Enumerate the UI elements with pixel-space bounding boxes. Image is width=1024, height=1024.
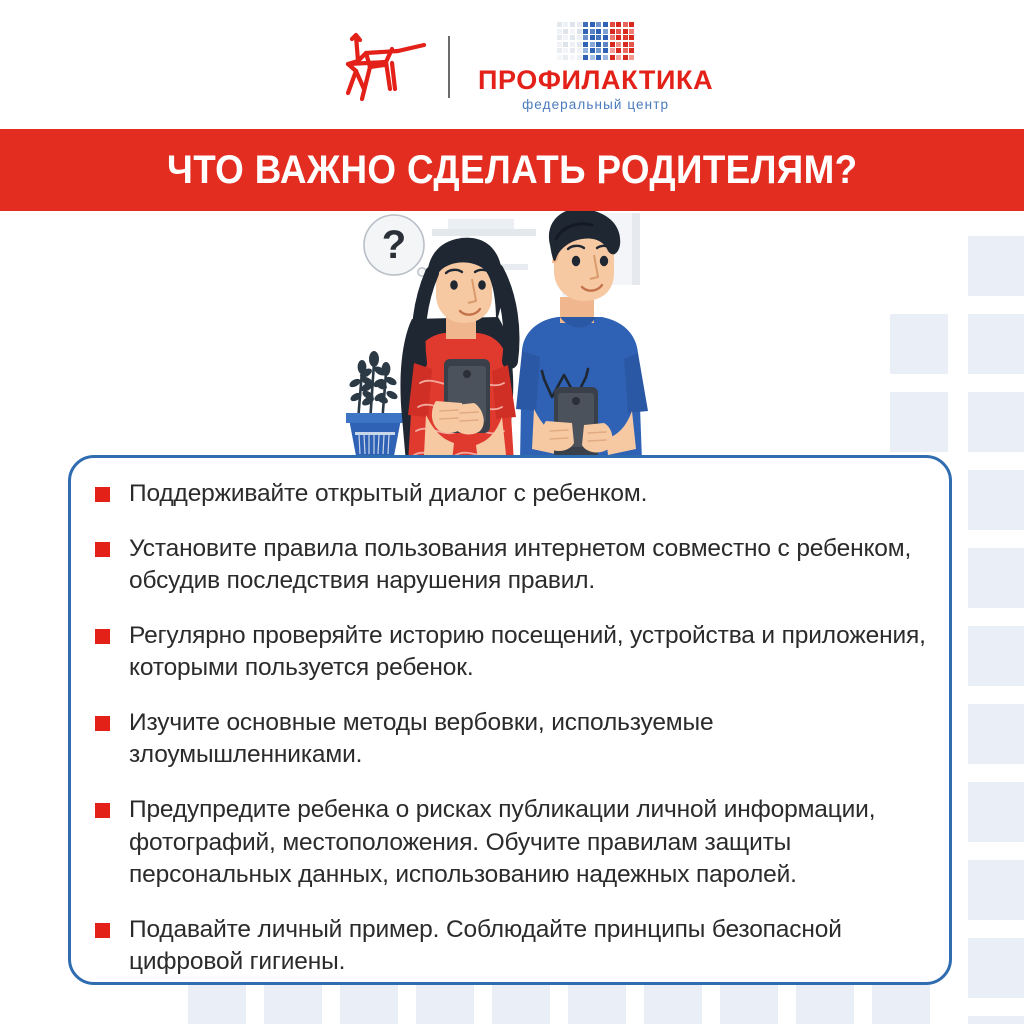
pattern-square [968,704,1024,764]
list-item-text: Подавайте личный пример. Соблюдайте прин… [129,914,931,979]
pixel-grid-icon [557,22,635,60]
deer-line-icon [336,27,428,107]
pattern-square [890,314,948,374]
page-title: ЧТО ВАЖНО СДЕЛАТЬ РОДИТЕЛЯМ? [167,148,857,193]
illustration-two-people-with-phones: ? [336,211,680,473]
bullet-square-icon [95,803,110,818]
bullet-square-icon [95,716,110,731]
list-item: Регулярно проверяйте историю посещений, … [95,620,931,685]
logo-divider [448,36,450,98]
pattern-square [968,938,1024,998]
list-item: Поддерживайте открытый диалог с ребенком… [95,478,931,511]
content-card: Поддерживайте открытый диалог с ребенком… [68,455,952,985]
list-item-text: Установите правила пользования интернето… [129,533,931,598]
bullet-square-icon [95,542,110,557]
pattern-square [968,470,1024,530]
list-item: Подавайте личный пример. Соблюдайте прин… [95,914,931,979]
brand-title: ПРОФИЛАКТИКА [478,67,713,94]
pattern-square [968,1016,1024,1024]
bullet-square-icon [95,629,110,644]
pattern-square [890,392,948,452]
bullet-square-icon [95,487,110,502]
pattern-square [968,860,1024,920]
background-pattern-right [968,236,1024,1024]
list-item: Предупредите ребенка о рисках публикации… [95,794,931,892]
svg-text:?: ? [382,223,406,267]
list-item-text: Поддерживайте открытый диалог с ребенком… [129,478,647,511]
bullet-square-icon [95,923,110,938]
header: ПРОФИЛАКТИКА федеральный центр [0,0,1024,129]
infographic-poster: ПРОФИЛАКТИКА федеральный центр ЧТО ВАЖНО… [0,0,1024,1024]
background-pattern-right-inner [890,314,948,452]
list-item-text: Регулярно проверяйте историю посещений, … [129,620,931,685]
list-item: Установите правила пользования интернето… [95,533,931,598]
list-item-text: Предупредите ребенка о рисках публикации… [129,794,931,892]
pattern-square [968,782,1024,842]
pattern-square [968,548,1024,608]
recommendations-list: Поддерживайте открытый диалог с ребенком… [95,478,931,1001]
pattern-square [968,626,1024,686]
logo-lockup: ПРОФИЛАКТИКА федеральный центр [336,22,713,111]
pattern-square [968,236,1024,296]
pattern-square [968,314,1024,374]
brand-block: ПРОФИЛАКТИКА федеральный центр [478,22,713,111]
title-banner: ЧТО ВАЖНО СДЕЛАТЬ РОДИТЕЛЯМ? [0,129,1024,211]
brand-subtitle: федеральный центр [522,98,669,112]
list-item: Изучите основные методы вербовки, исполь… [95,707,931,772]
pattern-square [968,392,1024,452]
list-item-text: Изучите основные методы вербовки, исполь… [129,707,931,772]
